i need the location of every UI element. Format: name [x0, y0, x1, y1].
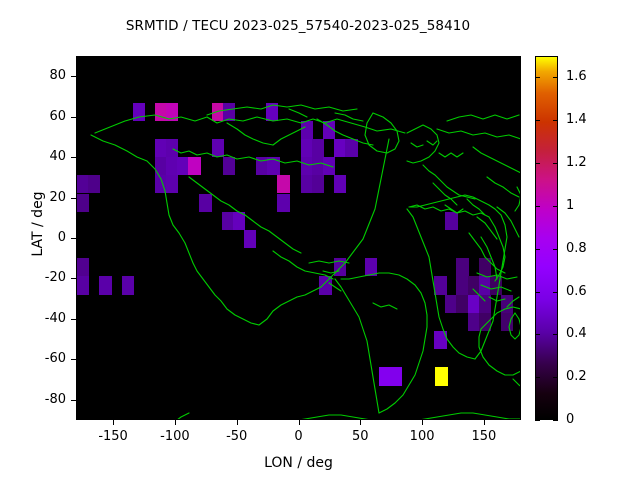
colorbar-tick — [535, 206, 540, 207]
colorbar-tick-inner — [553, 163, 558, 164]
x-axis-tick-label: 50 — [330, 429, 390, 444]
heatmap-cell — [345, 139, 357, 157]
colorbar-tick-inner — [553, 377, 558, 378]
colorbar-tick — [535, 292, 540, 293]
heatmap-cell — [212, 139, 224, 157]
heatmap-cell — [77, 258, 89, 276]
colorbar-tick-label: 0.6 — [566, 284, 587, 299]
heatmap-cell — [99, 276, 111, 294]
y-axis-tick — [71, 117, 76, 118]
heatmap-cell — [166, 139, 178, 157]
colorbar-tick-inner — [553, 334, 558, 335]
colorbar-tick-label: 0.2 — [566, 369, 587, 384]
x-axis-tick — [422, 420, 423, 425]
y-axis-tick-label: -40 — [14, 311, 66, 326]
x-axis-tick — [299, 420, 300, 425]
y-axis-tick-label: -80 — [14, 392, 66, 407]
map-plot-area[interactable] — [76, 56, 521, 420]
heatmap-cell — [312, 139, 324, 157]
y-axis-tick-label: 40 — [14, 149, 66, 164]
heatmap-cell — [390, 367, 402, 385]
y-axis-label: LAT / deg — [30, 164, 46, 284]
heatmap-cell — [456, 258, 468, 276]
x-axis-tick — [360, 420, 361, 425]
colorbar-tick — [535, 163, 540, 164]
colorbar-tick — [535, 249, 540, 250]
x-axis-tick-label: -150 — [83, 429, 143, 444]
heatmap-cell — [77, 276, 89, 294]
heatmap-cell — [334, 258, 346, 276]
x-axis-tick-label: 100 — [392, 429, 452, 444]
colorbar-tick-inner — [553, 420, 558, 421]
heatmap-cell — [479, 258, 491, 276]
heatmap-cell — [277, 194, 289, 212]
heatmap-cell — [267, 157, 279, 175]
heatmap-cell — [434, 331, 446, 349]
colorbar-tick-inner — [553, 292, 558, 293]
y-axis-tick-label: -20 — [14, 270, 66, 285]
heatmap-cell — [301, 121, 313, 139]
x-axis-tick-label: 150 — [454, 429, 514, 444]
colorbar-tick-label: 1 — [566, 198, 574, 213]
heatmap-cell — [365, 258, 377, 276]
heatmap-cell — [479, 295, 491, 313]
y-axis-tick — [71, 157, 76, 158]
colorbar-tick-inner — [553, 120, 558, 121]
heatmap-cell — [434, 276, 446, 294]
y-axis-tick — [71, 400, 76, 401]
heatmap-cell — [479, 313, 491, 331]
heatmap-cell — [266, 103, 278, 121]
heatmap-cell — [133, 103, 145, 121]
colorbar-tick — [535, 420, 540, 421]
colorbar-tick-label: 1.6 — [566, 69, 587, 84]
x-axis-tick-label: -100 — [145, 429, 205, 444]
y-axis-tick — [71, 319, 76, 320]
x-axis-tick — [484, 420, 485, 425]
x-axis-label: LON / deg — [76, 455, 521, 471]
heatmap-cell — [277, 175, 289, 193]
heatmap-cell — [77, 194, 89, 212]
heatmap-cell — [323, 121, 335, 139]
colorbar-tick — [535, 377, 540, 378]
y-axis-tick-label: 20 — [14, 190, 66, 205]
heatmap-cell — [312, 175, 324, 193]
heatmap-cell — [435, 367, 447, 385]
y-axis-tick — [71, 76, 76, 77]
colorbar-gradient — [536, 57, 557, 419]
figure-root: SRMTID / TECU 2023-025_57540-2023-025_58… — [0, 0, 640, 480]
y-axis-tick — [71, 198, 76, 199]
colorbar-tick-label: 0 — [566, 412, 574, 427]
colorbar-tick-label: 0.4 — [566, 326, 587, 341]
heatmap-cell — [199, 194, 211, 212]
colorbar[interactable] — [535, 56, 558, 420]
heatmap-cell — [223, 157, 235, 175]
colorbar-tick — [535, 77, 540, 78]
colorbar-tick-inner — [553, 206, 558, 207]
x-axis-tick-label: -50 — [207, 429, 267, 444]
heatmap-cell — [319, 276, 331, 294]
x-axis-tick — [175, 420, 176, 425]
heatmap-cells-layer — [77, 57, 521, 420]
colorbar-tick-label: 0.8 — [566, 241, 587, 256]
chart-title: SRMTID / TECU 2023-025_57540-2023-025_58… — [0, 18, 596, 34]
heatmap-cell — [445, 212, 457, 230]
heatmap-cell — [501, 295, 513, 313]
heatmap-cell — [166, 103, 178, 121]
y-axis-tick-label: 0 — [14, 230, 66, 245]
colorbar-tick-inner — [553, 249, 558, 250]
y-axis-tick — [71, 278, 76, 279]
colorbar-tick-label: 1.4 — [566, 112, 587, 127]
heatmap-cell — [244, 230, 256, 248]
colorbar-tick-inner — [553, 77, 558, 78]
heatmap-cell — [166, 175, 178, 193]
y-axis-tick — [71, 238, 76, 239]
y-axis-tick-label: -60 — [14, 351, 66, 366]
heatmap-cell — [122, 276, 134, 294]
heatmap-cell — [188, 157, 200, 175]
heatmap-cell — [490, 276, 502, 294]
heatmap-cell — [323, 157, 335, 175]
colorbar-tick-label: 1.2 — [566, 155, 587, 170]
heatmap-cell — [88, 175, 100, 193]
x-axis-tick-label: 0 — [269, 429, 329, 444]
heatmap-cell — [223, 103, 235, 121]
colorbar-tick — [535, 120, 540, 121]
y-axis-tick-label: 60 — [14, 109, 66, 124]
x-axis-tick — [237, 420, 238, 425]
heatmap-cell — [334, 175, 346, 193]
y-axis-tick-label: 80 — [14, 68, 66, 83]
x-axis-tick — [113, 420, 114, 425]
y-axis-tick — [71, 359, 76, 360]
heatmap-cell — [233, 212, 245, 230]
heatmap-cell — [501, 313, 513, 331]
colorbar-tick — [535, 334, 540, 335]
